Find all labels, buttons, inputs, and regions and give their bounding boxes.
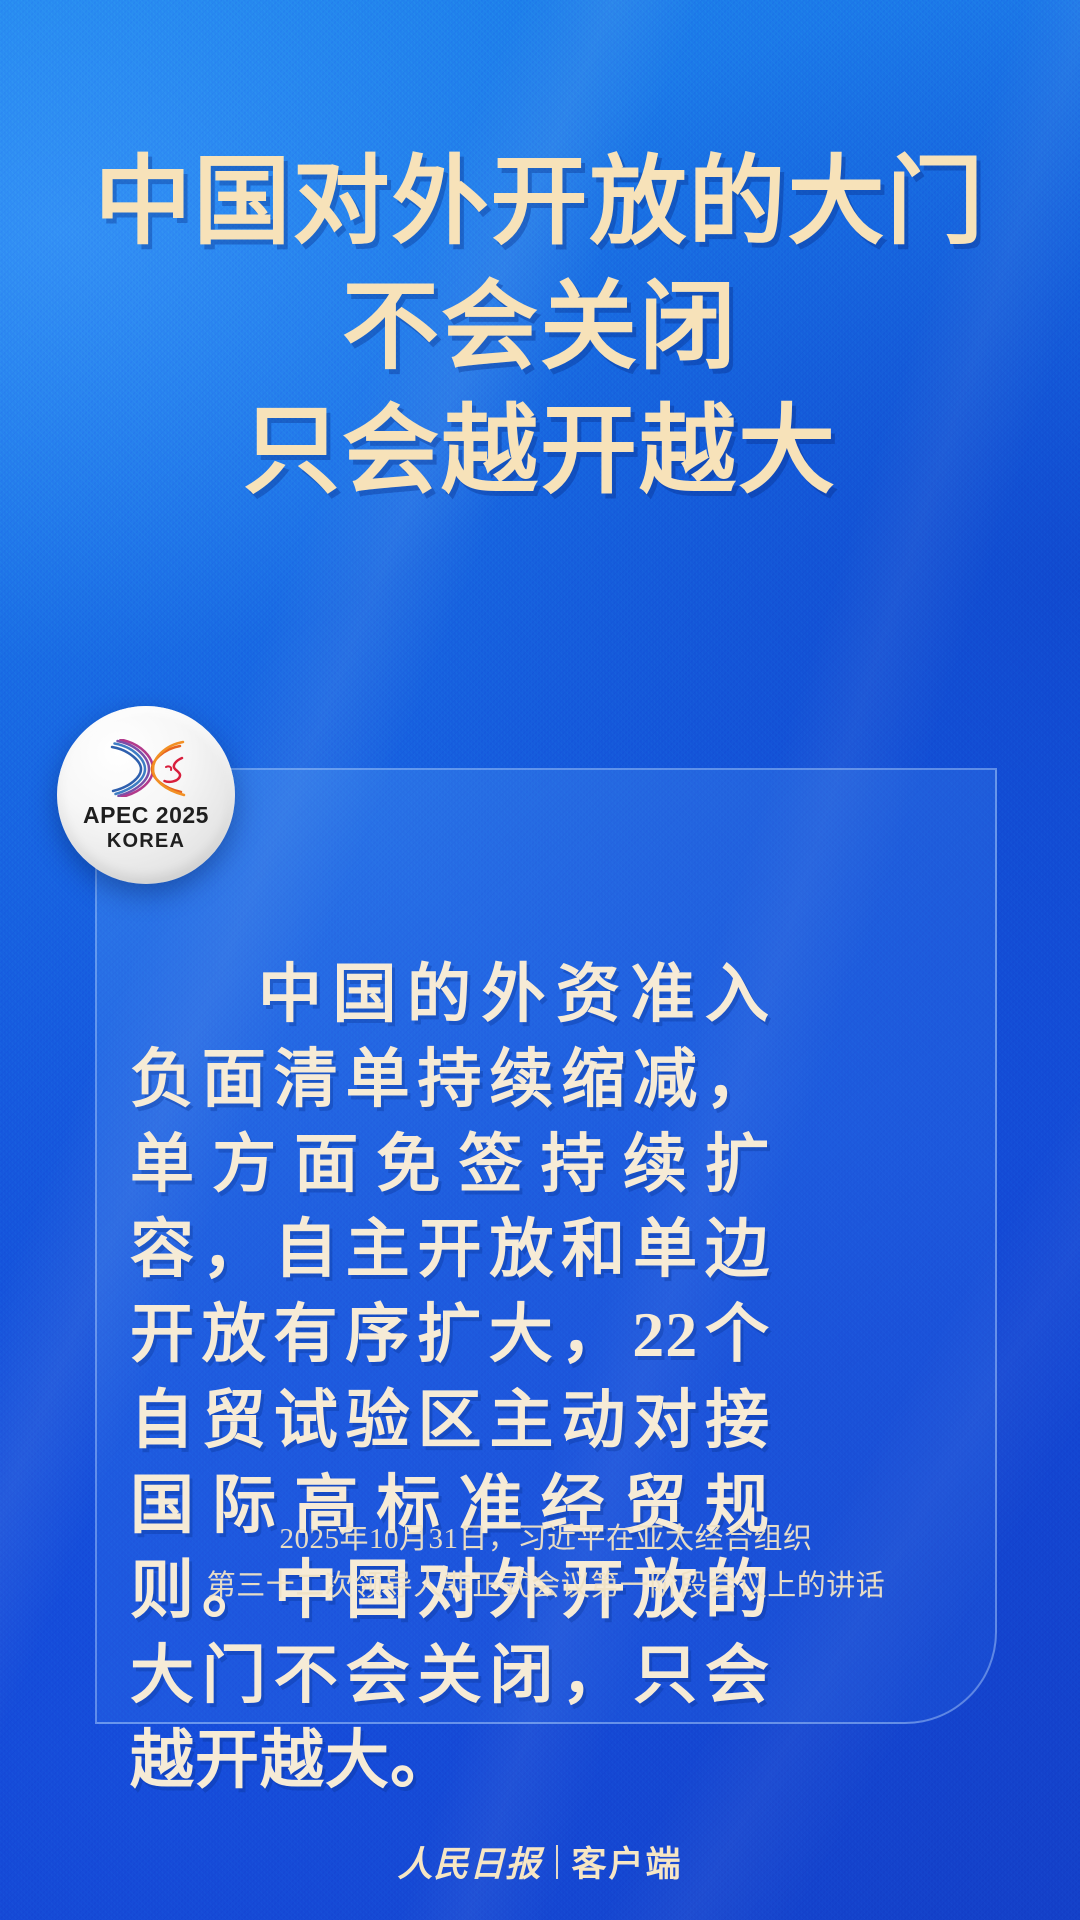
quote-attribution: 2025年10月31日，习近平在亚太经合组织 第三十二次领导人非正式会议第一阶段… (95, 1516, 997, 1610)
page-title: 中国对外开放的大门 不会关闭 只会越开越大 (0, 146, 1080, 508)
publisher-logo: 人民日报 (397, 1836, 541, 1887)
apec-badge: APEC 2025 KOREA (57, 706, 235, 884)
poster-root: 中国对外开放的大门 不会关闭 只会越开越大 APEC 2025 KOREA (0, 0, 1080, 1920)
attribution-line-2: 第三十二次领导人非正式会议第一阶段会议上的讲话 (95, 1563, 997, 1610)
product-name: 客户端 (572, 1836, 683, 1887)
apec-badge-title: APEC 2025 (83, 802, 209, 829)
footer-divider (556, 1845, 558, 1879)
quote-text: 中国的外资准入负面清单持续缩减，单方面免签持续扩容，自主开放和单边开放有序扩大，… (130, 952, 770, 1803)
footer-branding: 人民日报 客户端 (0, 1836, 1080, 1887)
headline-line-2: 不会关闭 (0, 271, 1080, 384)
apec-face-logo-icon (93, 739, 199, 797)
headline-line-3: 只会越开越大 (0, 395, 1080, 508)
headline-line-1: 中国对外开放的大门 (0, 146, 1080, 259)
apec-badge-subtitle: KOREA (107, 830, 185, 853)
attribution-line-1: 2025年10月31日，习近平在亚太经合组织 (95, 1516, 997, 1563)
